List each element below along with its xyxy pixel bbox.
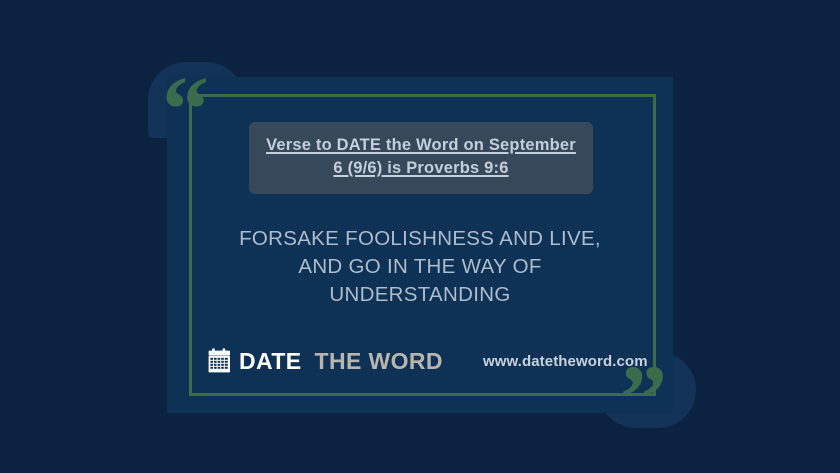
- website-url[interactable]: www.datetheword.com: [483, 353, 648, 370]
- verse-title: Verse to DATE the Word on September 6 (9…: [266, 136, 576, 177]
- verse-card-canvas: “ ” Verse to DATE the Word on September …: [0, 0, 840, 473]
- footer-row: DATE THE WORD www.datetheword.com: [208, 344, 648, 378]
- calendar-icon: [208, 348, 233, 374]
- brand-logo: DATE THE WORD: [208, 348, 443, 375]
- card-content: Verse to DATE the Word on September 6 (9…: [167, 77, 673, 413]
- brand-name-primary: DATE: [239, 348, 302, 375]
- verse-title-plate: Verse to DATE the Word on September 6 (9…: [249, 122, 593, 194]
- brand-name-secondary: THE WORD: [315, 348, 443, 375]
- verse-body: FORSAKE FOOLISHNESS AND LIVE, AND GO IN …: [230, 225, 610, 309]
